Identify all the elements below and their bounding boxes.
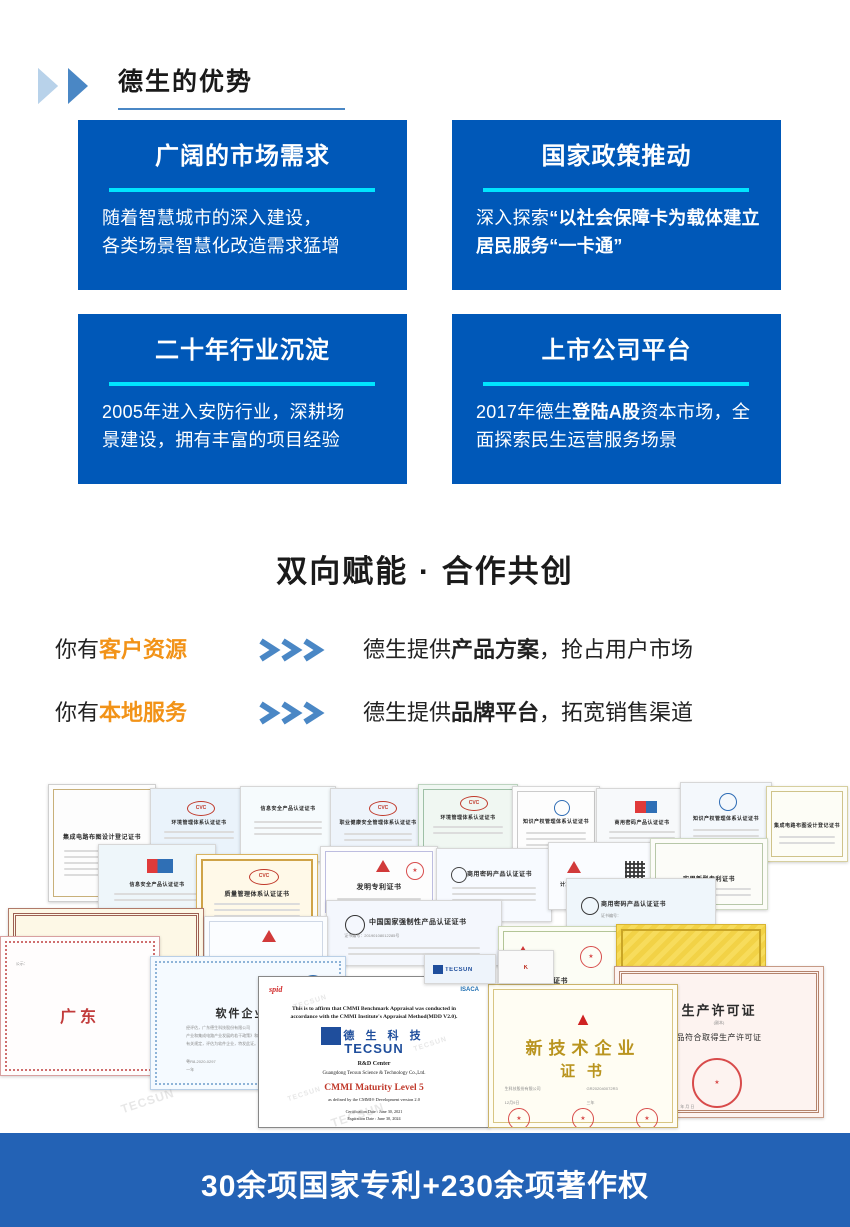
footer-text: 30余项国家专利+230余项著作权 bbox=[0, 1161, 850, 1205]
card-body-bold: 登陆A股 bbox=[572, 402, 640, 422]
title-underline bbox=[118, 108, 345, 110]
certificate-subtitle: 证 书 bbox=[494, 1060, 672, 1081]
empower-section-title: 双向赋能 · 合作共创 bbox=[0, 546, 850, 591]
cmmi-center: R&D Center bbox=[276, 1061, 471, 1067]
certificate-item: K bbox=[498, 950, 554, 984]
certificate-title: 职业健康安全管理体系认证证书 bbox=[335, 819, 421, 826]
empower-row-local-service: 你有本地服务 德生提供品牌平台，拓宽销售渠道 bbox=[0, 696, 850, 736]
watermark: TECSUN bbox=[119, 1086, 176, 1116]
card-body-prefix: 深入探索 bbox=[476, 208, 549, 228]
advantage-card-market-demand: 广阔的市场需求 随着智慧城市的深入建设， 各类场景智慧化改造需求猛增 bbox=[78, 120, 407, 290]
certificate-item-hightech: ▲ 新技术企业 证 书 生科技股份有限公司 GR202040072R3 12月9… bbox=[488, 984, 678, 1128]
certificate-title: 广东 bbox=[7, 1003, 153, 1027]
certificate-title: 信息安全产品认证证书 bbox=[245, 805, 331, 812]
certificate-title: 环境管理体系认证证书 bbox=[424, 814, 512, 821]
empower-right-prefix: 德生提供 bbox=[363, 700, 451, 725]
empower-left-highlight: 客户资源 bbox=[99, 637, 187, 662]
certificate-title: 集成电路布图设计登记证书 bbox=[54, 832, 150, 841]
certificate-title: 中国国家强制性产品认证证书 bbox=[369, 917, 497, 927]
empower-right-prefix: 德生提供 bbox=[363, 637, 451, 662]
empower-right-suffix: ，拓宽销售渠道 bbox=[539, 700, 693, 725]
triple-chevron-icon bbox=[255, 698, 345, 728]
card-body-line: 各类场景智慧化改造需求猛增 bbox=[102, 232, 387, 260]
certificate-item: TECSUN bbox=[424, 954, 496, 984]
section-header: 德生的优势 bbox=[0, 28, 850, 90]
certificate-collage: 集成电路布图设计登记证书 CVC 环境管理体系认证证书 信息安全产品认证证书 C… bbox=[0, 768, 850, 1133]
certificate-subtext: 公示： bbox=[16, 961, 142, 967]
certificate-item: 广东 公示： bbox=[0, 936, 160, 1076]
certificate-subtext: 证书编号： bbox=[601, 913, 700, 919]
advantage-card-listed-company: 上市公司平台 2017年德生登陆A股资本市场，全面探索民生运营服务场景 bbox=[452, 314, 781, 484]
card-body: 深入探索“以社会保障卡为载体建立居民服务“一卡通” bbox=[476, 204, 761, 260]
empower-right-bold: 产品方案 bbox=[451, 637, 539, 662]
flame-icon: ▲ bbox=[494, 1010, 672, 1028]
hightech-valid: 三年 bbox=[587, 1100, 658, 1106]
card-divider bbox=[109, 188, 375, 192]
spid-logo: spid bbox=[269, 985, 282, 994]
card-body-line: 随着智慧城市的深入建设， bbox=[102, 204, 387, 232]
card-body: 2017年德生登陆A股资本市场，全面探索民生运营服务场景 bbox=[476, 398, 761, 454]
certificate-title: 知识产权管理体系认证证书 bbox=[685, 815, 767, 822]
certificate-title: 环境管理体系认证证书 bbox=[155, 819, 243, 826]
empower-right-text: 德生提供产品方案，抢占用户市场 bbox=[363, 633, 693, 667]
card-body-prefix: 2017年德生 bbox=[476, 402, 572, 422]
certificate-title: 集成电路布图设计登记证书 bbox=[772, 822, 842, 829]
card-title: 二十年行业沉淀 bbox=[78, 336, 407, 366]
cmmi-brand-en: TECSUN bbox=[263, 1041, 485, 1056]
advantage-card-twenty-years: 二十年行业沉淀 2005年进入安防行业，深耕场 景建设，拥有丰富的项目经验 bbox=[78, 314, 407, 484]
tecsun-label: TECSUN bbox=[445, 967, 491, 973]
certificate-subtext: 证书编号：20190108012285号 bbox=[344, 933, 483, 939]
triple-chevron-icon bbox=[255, 635, 345, 665]
certificate-title: 商用密码产品认证证书 bbox=[467, 869, 547, 878]
certificate-item: 集成电路布图设计登记证书 bbox=[766, 786, 848, 862]
card-title: 国家政策推动 bbox=[452, 142, 781, 172]
card-title: 广阔的市场需求 bbox=[78, 142, 407, 172]
empower-right-bold: 品牌平台 bbox=[451, 700, 539, 725]
certificate-title: 商用密码产品认证证书 bbox=[601, 819, 683, 826]
certificate-title: 发明专利证书 bbox=[326, 882, 432, 892]
hightech-cert-no: GR202040072R3 bbox=[587, 1086, 658, 1092]
advantage-card-national-policy: 国家政策推动 深入探索“以社会保障卡为载体建立居民服务“一卡通” bbox=[452, 120, 781, 290]
card-body: 2005年进入安防行业，深耕场 景建设，拥有丰富的项目经验 bbox=[102, 398, 387, 454]
cmmi-statement-line2: accordance with the CMMI Institute's App… bbox=[276, 1013, 471, 1021]
empower-row-customer-resources: 你有客户资源 德生提供产品方案，抢占用户市场 bbox=[0, 633, 850, 673]
certificate-title: 商用密码产品认证证书 bbox=[601, 899, 711, 908]
certificate-title: 信息安全产品认证证书 bbox=[103, 881, 211, 888]
card-body-line: 2005年进入安防行业，深耕场 bbox=[102, 398, 387, 426]
chevron-right-icon-dark bbox=[66, 66, 102, 106]
empower-left-text: 你有本地服务 bbox=[55, 696, 187, 730]
empower-left-prefix: 你有 bbox=[55, 637, 99, 662]
card-divider bbox=[109, 382, 375, 386]
card-body: 随着智慧城市的深入建设， 各类场景智慧化改造需求猛增 bbox=[102, 204, 387, 260]
empower-left-text: 你有客户资源 bbox=[55, 633, 187, 667]
advantage-cards: 广阔的市场需求 随着智慧城市的深入建设， 各类场景智慧化改造需求猛增 国家政策推… bbox=[0, 120, 850, 480]
card-body-line: 景建设，拥有丰富的项目经验 bbox=[102, 426, 387, 454]
card-title: 上市公司平台 bbox=[452, 336, 781, 366]
chevron-group bbox=[36, 66, 114, 106]
footer-banner: 30余项国家专利+230余项著作权 bbox=[0, 1133, 850, 1227]
cmmi-level: CMMI Maturity Level 5 bbox=[263, 1083, 485, 1093]
kingsoft-label: K bbox=[503, 965, 549, 971]
certificate-item: CVC 环境管理体系认证证书 bbox=[418, 784, 518, 854]
empower-left-highlight: 本地服务 bbox=[99, 700, 187, 725]
empower-left-prefix: 你有 bbox=[55, 700, 99, 725]
page-title: 德生的优势 bbox=[118, 66, 253, 98]
card-divider bbox=[483, 188, 749, 192]
isaca-logo: ISACA bbox=[460, 987, 479, 993]
certificate-title: 知识产权管理体系认证证书 bbox=[518, 818, 594, 825]
empower-right-suffix: ，抢占用户市场 bbox=[539, 637, 693, 662]
cmmi-company: Guangdong Tecsun Science & Technology Co… bbox=[276, 1071, 471, 1076]
empower-right-text: 德生提供品牌平台，拓宽销售渠道 bbox=[363, 696, 693, 730]
card-divider bbox=[483, 382, 749, 386]
certificate-title: 质量管理体系认证证书 bbox=[203, 889, 311, 898]
certificate-title: 新技术企业 bbox=[494, 1034, 672, 1059]
